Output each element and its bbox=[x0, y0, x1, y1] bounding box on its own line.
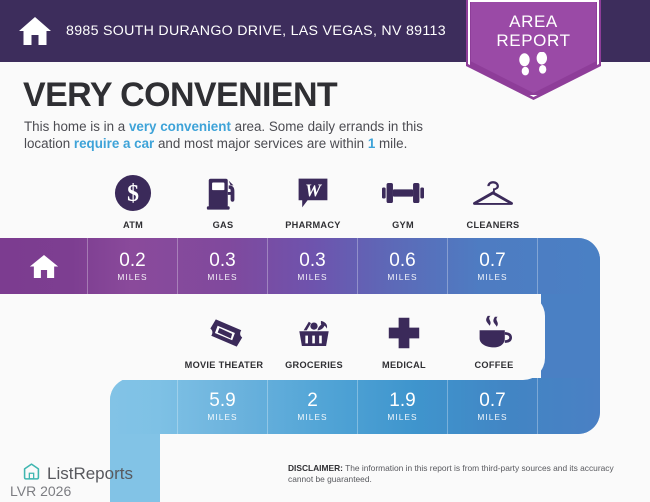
distance-value: 0.3 bbox=[299, 251, 325, 271]
distance-cell-movie-theater: 5.9 MILES bbox=[178, 378, 268, 434]
report-code: LVR 2026 bbox=[10, 483, 71, 499]
area-report-infographic: 8985 SOUTH DURANGO DRIVE, LAS VEGAS, NV … bbox=[0, 0, 650, 502]
distance-unit: MILES bbox=[207, 412, 237, 422]
distance-value: 0.6 bbox=[389, 251, 415, 271]
distance-unit: MILES bbox=[297, 412, 327, 422]
gas-pump-icon bbox=[204, 172, 242, 214]
svg-text:$: $ bbox=[127, 181, 139, 207]
icon-label: ATM bbox=[123, 220, 143, 230]
icon-label: COFFEE bbox=[474, 360, 513, 370]
pharmacy-w-icon: W bbox=[295, 172, 331, 214]
distance-cell-atm: 0.2 MILES bbox=[88, 238, 178, 294]
distance-unit: MILES bbox=[207, 272, 237, 282]
distance-cell-gym: 0.6 MILES bbox=[358, 238, 448, 294]
home-marker-segment bbox=[0, 238, 88, 294]
icon-cell-gym: GYM bbox=[358, 172, 448, 230]
footprints-icon bbox=[466, 52, 601, 83]
coffee-cup-icon bbox=[475, 312, 513, 354]
distance-cell-pharmacy: 0.3 MILES bbox=[268, 238, 358, 294]
distance-cell-groceries: 2 MILES bbox=[268, 378, 358, 434]
icon-row-1: $ ATM GAS W bbox=[88, 172, 538, 230]
row-2-leading-spacer bbox=[110, 378, 178, 434]
medical-cross-icon bbox=[387, 312, 421, 354]
icon-cell-medical: MEDICAL bbox=[359, 312, 449, 370]
distance-cell-gas: 0.3 MILES bbox=[178, 238, 268, 294]
disclaimer-label: DISCLAIMER: bbox=[288, 463, 343, 473]
icon-label: PHARMACY bbox=[285, 220, 340, 230]
icon-cell-gas: GAS bbox=[178, 172, 268, 230]
icon-label: MEDICAL bbox=[382, 360, 426, 370]
disclaimer: DISCLAIMER: The information in this repo… bbox=[288, 463, 636, 485]
grocery-basket-icon bbox=[295, 312, 333, 354]
icon-label: GROCERIES bbox=[285, 360, 343, 370]
dumbbell-icon bbox=[382, 172, 424, 214]
distance-values-row-2: 5.9 MILES 2 MILES 1.9 MILES 0.7 MILES bbox=[110, 378, 600, 434]
distance-value: 2 bbox=[307, 391, 318, 411]
icon-label: CLEANERS bbox=[467, 220, 520, 230]
icon-cell-cleaners: CLEANERS bbox=[448, 172, 538, 230]
distance-cell-medical: 1.9 MILES bbox=[358, 378, 448, 434]
icon-cell-groceries: GROCERIES bbox=[269, 312, 359, 370]
home-icon bbox=[29, 253, 59, 280]
distance-value: 0.7 bbox=[479, 251, 505, 271]
distance-unit: MILES bbox=[477, 412, 507, 422]
icon-label: GYM bbox=[392, 220, 414, 230]
icon-label: MOVIE THEATER bbox=[185, 360, 264, 370]
distance-unit: MILES bbox=[387, 412, 417, 422]
distance-value: 0.2 bbox=[119, 251, 145, 271]
distance-value: 0.3 bbox=[209, 251, 235, 271]
icon-cell-pharmacy: W PHARMACY bbox=[268, 172, 358, 230]
icon-label: GAS bbox=[213, 220, 234, 230]
icon-row-2: MOVIE THEATER GROCERIES bbox=[179, 312, 539, 370]
icon-cell-coffee: COFFEE bbox=[449, 312, 539, 370]
distance-cell-coffee: 0.7 MILES bbox=[448, 378, 538, 434]
distance-unit: MILES bbox=[387, 272, 417, 282]
svg-text:W: W bbox=[305, 181, 323, 201]
distance-unit: MILES bbox=[117, 272, 147, 282]
distance-value: 1.9 bbox=[389, 391, 415, 411]
distance-unit: MILES bbox=[297, 272, 327, 282]
distance-unit: MILES bbox=[477, 272, 507, 282]
icon-cell-atm: $ ATM bbox=[88, 172, 178, 230]
dollar-circle-icon: $ bbox=[114, 172, 152, 214]
distance-value: 5.9 bbox=[209, 391, 235, 411]
ticket-icon bbox=[204, 312, 244, 354]
distance-cell-cleaners: 0.7 MILES bbox=[448, 238, 538, 294]
badge-line-1: AREA bbox=[466, 12, 601, 31]
badge-line-2: REPORT bbox=[466, 31, 601, 50]
hanger-icon bbox=[472, 172, 514, 214]
brand-name: ListReports bbox=[47, 464, 133, 484]
distance-value: 0.7 bbox=[479, 391, 505, 411]
distance-values-row-1: 0.2 MILES 0.3 MILES 0.3 MILES 0.6 MILES … bbox=[0, 238, 600, 294]
area-report-badge-text: AREA REPORT bbox=[466, 12, 601, 50]
icon-cell-movie-theater: MOVIE THEATER bbox=[179, 312, 269, 370]
